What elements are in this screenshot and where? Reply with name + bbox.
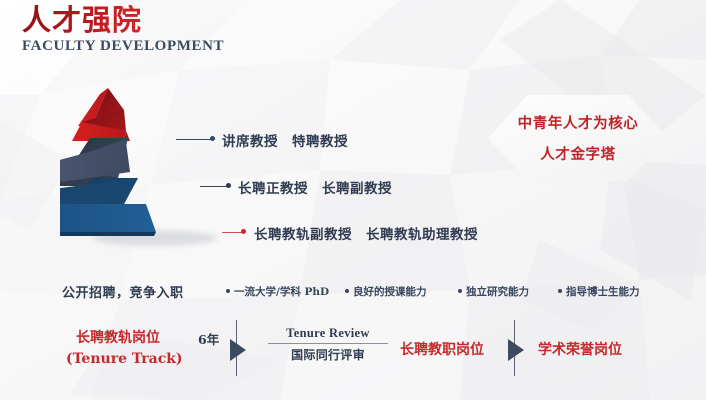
criteria-item-1: 良好的授课能力 (345, 284, 427, 299)
criteria-heading: 公开招聘，竞争入职 (62, 282, 184, 301)
flow-stage1-duration: 6年 (198, 329, 219, 348)
connector-dot-tier-middle (226, 183, 231, 188)
page-title-en: FACULTY DEVELOPMENT (22, 38, 224, 55)
connector-line-tier-top (176, 139, 214, 140)
flow-stage3: 学术荣誉岗位 (538, 339, 622, 359)
criteria-item-2: 独立研究能力 (458, 284, 529, 299)
flow-stage2: 长聘教职岗位 (400, 339, 484, 359)
core-concept-callout: 中青年人才为核心 人才金字塔 (488, 95, 668, 181)
talent-pyramid-graphic (60, 86, 260, 256)
flow-review-rule (268, 343, 388, 344)
callout-line-1: 中青年人才为核心 (518, 112, 639, 133)
career-flow: 长聘教轨岗位 (Tenure Track) 6年 Tenure Review 国… (0, 318, 706, 380)
flow-stage1-line2: (Tenure Track) (66, 351, 183, 367)
criteria-item-0: 一流大学/学科 PhD (226, 284, 329, 299)
flow-arrow-1 (230, 339, 246, 361)
pyramid-tier-top (72, 88, 130, 141)
callout-line-2: 人才金字塔 (540, 143, 616, 164)
criteria-item-0-label: 一流大学/学科 PhD (234, 286, 329, 298)
page-title-cn: 人才强院 (22, 5, 224, 35)
criteria-row: 公开招聘，竞争入职 一流大学/学科 PhD 良好的授课能力 独立研究能力 指导博… (0, 282, 706, 302)
tier-label-middle: 长聘正教授 长聘副教授 (238, 177, 392, 197)
page-header: 人才强院 FACULTY DEVELOPMENT (22, 5, 224, 55)
tier-label-base: 长聘教轨副教授 长聘教轨助理教授 (254, 223, 478, 243)
slide-canvas: 人才强院 FACULTY DEVELOPMENT (0, 0, 706, 400)
pyramid-tier-base-slab (60, 204, 156, 236)
criteria-item-2-label: 独立研究能力 (466, 286, 529, 298)
bullet-icon (345, 289, 349, 293)
bullet-icon (458, 289, 462, 293)
criteria-item-3-label: 指导博士生能力 (566, 286, 640, 298)
flow-stage1-line1: 长聘教轨岗位 (76, 327, 160, 347)
connector-dot-tier-top (210, 136, 215, 141)
connector-dot-tier-base (241, 229, 246, 234)
criteria-item-1-label: 良好的授课能力 (353, 286, 427, 298)
flow-arrow-2 (508, 339, 524, 361)
flow-review-cn: 国际同行评审 (268, 346, 388, 363)
tier-label-top: 讲席教授 特聘教授 (222, 130, 348, 150)
bullet-icon (558, 289, 562, 293)
bullet-icon (226, 289, 230, 293)
flow-tenure-review: Tenure Review 国际同行评审 (268, 326, 388, 363)
criteria-item-3: 指导博士生能力 (558, 284, 640, 299)
flow-review-en: Tenure Review (268, 326, 388, 341)
